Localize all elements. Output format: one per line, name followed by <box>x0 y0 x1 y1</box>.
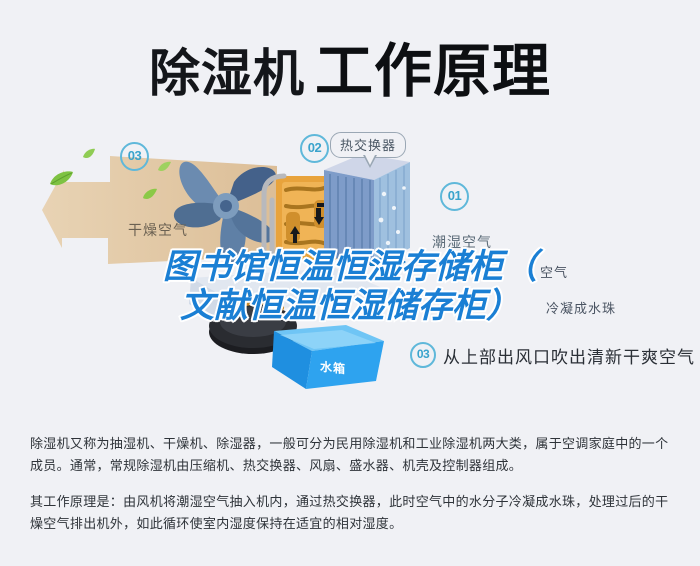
overlay-watermark-title: 图书馆恒温恒湿存储柜（ 文献恒温恒湿储存柜） <box>0 248 700 326</box>
body-paragraph-1: 除湿机又称为抽湿机、干燥机、除湿器，一般可分为民用除湿机和工业除湿机两大类，属于… <box>30 433 676 477</box>
caption-badge-03: 03 <box>410 342 436 368</box>
leaf-icon <box>82 147 96 165</box>
caption-step-03-text: 从上部出风口吹出清新干爽空气 <box>443 343 695 368</box>
leaf-icon <box>48 170 74 193</box>
leaf-icon <box>142 188 158 206</box>
step-badge-01: 01 <box>440 182 469 211</box>
water-tank-label: 水箱 <box>320 358 346 378</box>
water-tank: 水箱 <box>272 325 390 403</box>
page-title: 除湿机工作原理 <box>0 24 700 108</box>
title-segment-primary: 除湿机 <box>149 45 305 102</box>
overlay-line-1: 图书馆恒温恒湿存储柜（ <box>0 248 700 287</box>
overlay-line-2: 文献恒温恒湿储存柜） <box>0 287 700 326</box>
callout-tail <box>363 155 377 168</box>
infographic-page: 除湿机工作原理 <box>0 0 700 566</box>
title-segment-secondary: 工作原理 <box>315 39 551 104</box>
step-badge-03: 03 <box>120 142 149 171</box>
label-dry-air: 干燥空气 <box>128 220 188 240</box>
caption-step-03: 03 从上部出风口吹出清新干爽空气 <box>410 342 695 368</box>
body-paragraph-2: 其工作原理是：由风机将潮湿空气抽入机内，通过热交换器，此时空气中的水分子冷凝成水… <box>30 491 676 535</box>
step-badge-02: 02 <box>300 134 329 163</box>
